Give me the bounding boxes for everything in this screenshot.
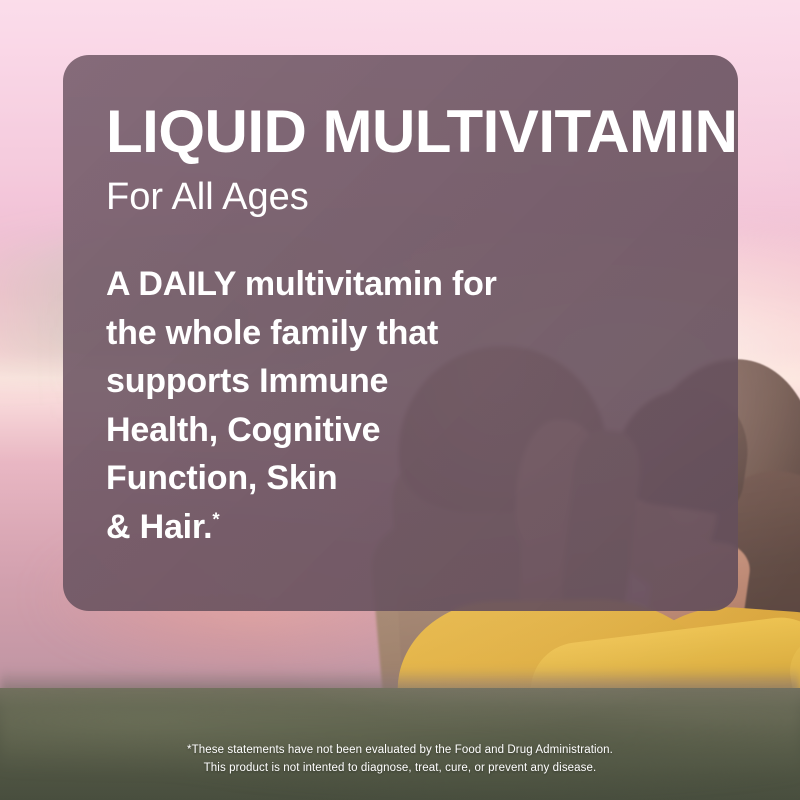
disclaimer-line-2: This product is not intented to diagnose…	[0, 760, 800, 778]
fda-disclaimer: *These statements have not been evaluate…	[0, 742, 800, 778]
product-subheadline: For All Ages	[106, 178, 708, 216]
product-headline: LIQUID MULTIVITAMIN	[106, 102, 708, 162]
description-line-1: A DAILY multivitamin for	[106, 265, 497, 303]
product-description: A DAILY multivitamin for the whole famil…	[106, 260, 576, 552]
description-line-5: Function, Skin	[106, 459, 337, 497]
description-line-3: supports Immune	[106, 362, 388, 400]
card-content: LIQUID MULTIVITAMIN For All Ages A DAILY…	[106, 102, 708, 552]
footnote-asterisk: *	[212, 509, 219, 530]
disclaimer-line-1: *These statements have not been evaluate…	[0, 742, 800, 760]
advertisement-creative: LIQUID MULTIVITAMIN For All Ages A DAILY…	[0, 0, 800, 800]
description-line-4: Health, Cognitive	[106, 411, 380, 449]
description-line-6: & Hair.	[106, 508, 212, 546]
text-overlay-card: LIQUID MULTIVITAMIN For All Ages A DAILY…	[63, 55, 738, 611]
description-line-2: the whole family that	[106, 314, 438, 352]
